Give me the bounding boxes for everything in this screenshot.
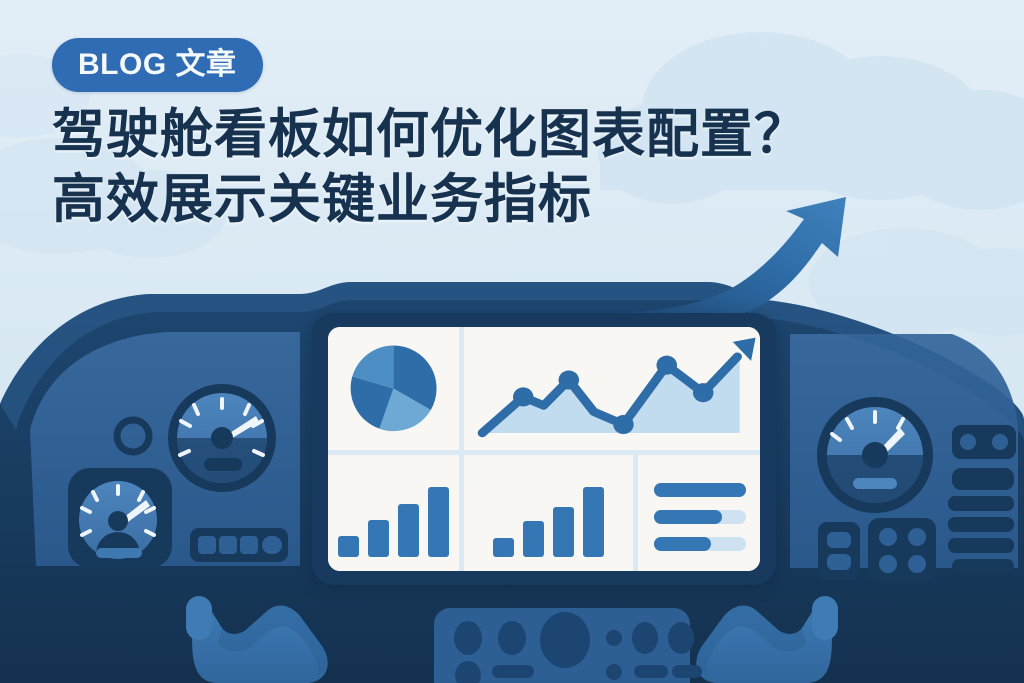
blog-badge-label: BLOG 文章 <box>78 50 237 80</box>
pie-chart <box>328 327 459 450</box>
button-pad <box>818 518 936 582</box>
progress-fill <box>654 510 722 524</box>
headline-line-1: 驾驶舱看板如何优化图表配置？ <box>52 103 952 168</box>
dashboard-screen-frame <box>312 313 776 585</box>
attitude-gauge <box>817 397 933 513</box>
line-area-chart <box>464 327 760 450</box>
chart-panel-bars-center[interactable] <box>464 455 633 571</box>
chart-panel-progress[interactable] <box>638 455 760 571</box>
bar-4 <box>583 487 604 557</box>
progress-fill <box>654 537 711 551</box>
bar-2 <box>368 520 389 557</box>
bar-2 <box>523 521 544 557</box>
bar-chart-left <box>328 483 459 557</box>
progress-row <box>654 483 746 497</box>
bar-3 <box>398 504 419 557</box>
dashboard-screen[interactable] <box>328 327 760 571</box>
cover-canvas: BLOG 文章 驾驶舱看板如何优化图表配置？ 高效展示关键业务指标 <box>0 0 1024 683</box>
vent-stack <box>948 425 1016 574</box>
progress-row <box>654 510 746 524</box>
speed-gauge <box>168 384 276 492</box>
chart-panel-pie[interactable] <box>328 327 459 450</box>
progress-row <box>654 537 746 551</box>
bar-3 <box>553 507 574 557</box>
altimeter-gauge <box>68 468 172 568</box>
bar-1 <box>493 538 514 557</box>
chart-panel-bars-left[interactable] <box>328 455 459 571</box>
switch-strip <box>190 528 288 562</box>
bar-1 <box>338 536 359 557</box>
bar-chart-center <box>464 483 633 557</box>
progress-fill <box>654 483 746 497</box>
headline-line-2: 高效展示关键业务指标 <box>52 168 952 233</box>
page-title: 驾驶舱看板如何优化图表配置？ 高效展示关键业务指标 <box>52 103 952 232</box>
progress-list <box>654 483 746 551</box>
bar-4 <box>428 487 449 557</box>
blog-badge: BLOG 文章 <box>52 38 263 92</box>
chart-panel-line[interactable] <box>464 327 760 450</box>
throttle-console[interactable] <box>434 608 702 683</box>
